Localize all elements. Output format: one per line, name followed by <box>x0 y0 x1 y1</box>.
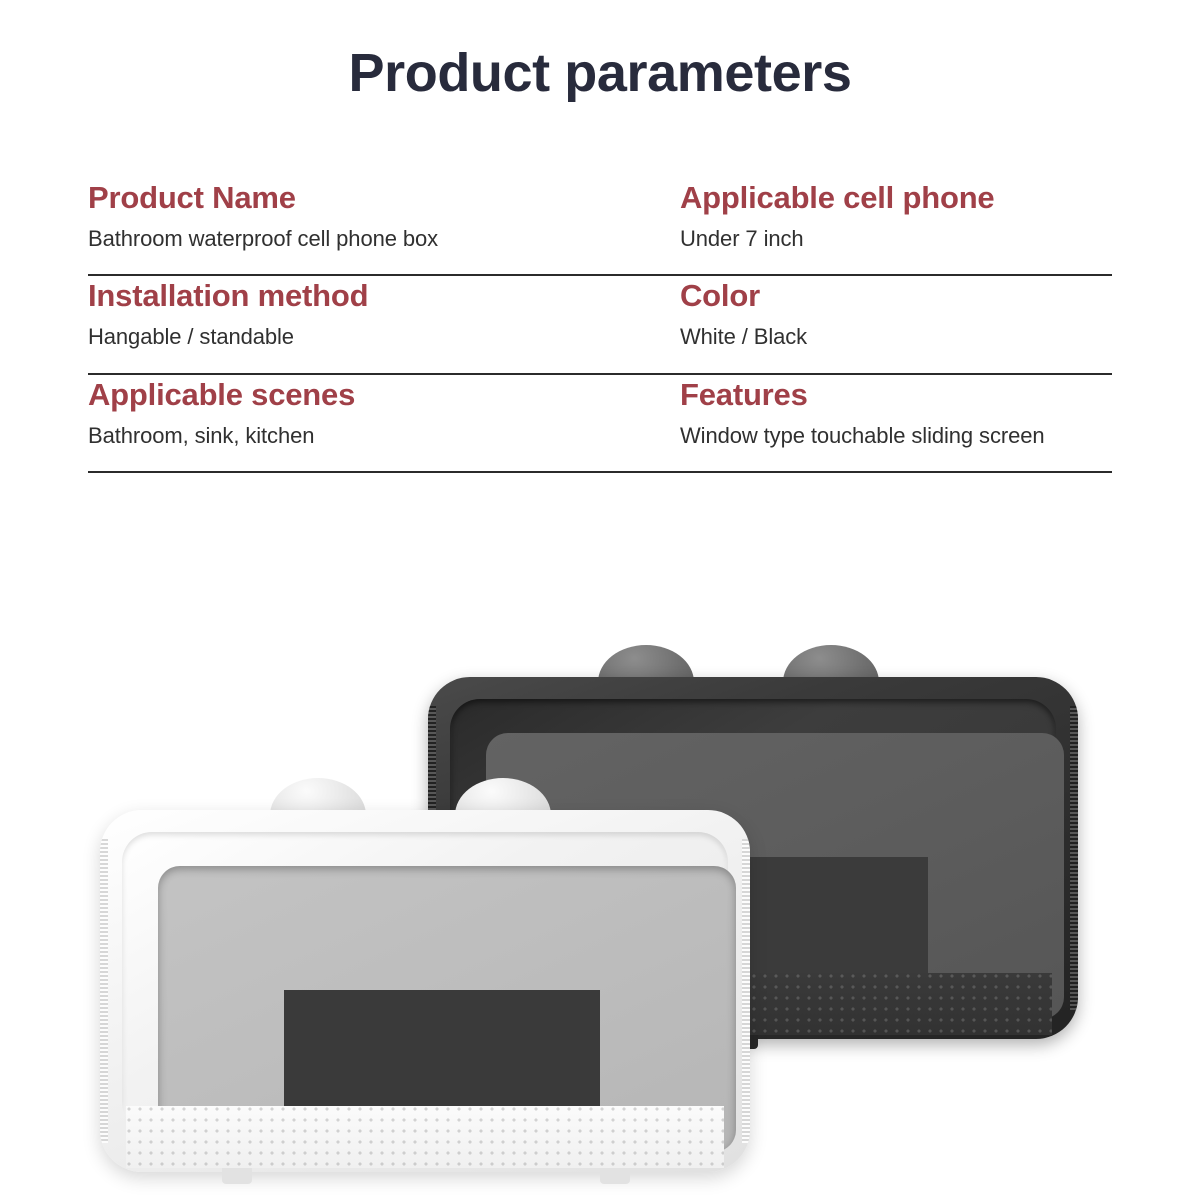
spec-cell-product-name: Product Name Bathroom waterproof cell ph… <box>88 178 680 274</box>
spec-row: Applicable scenes Bathroom, sink, kitche… <box>88 375 1112 473</box>
spec-cell-features: Features Window type touchable sliding s… <box>680 375 1112 471</box>
product-parameters-page: Product parameters Product Name Bathroom… <box>0 0 1200 1200</box>
device-bezel-white <box>122 832 728 1132</box>
spec-value-product-name: Bathroom waterproof cell phone box <box>88 226 680 252</box>
spec-value-applicable-cell-phone: Under 7 inch <box>680 226 1112 252</box>
device-shell-white <box>100 810 750 1172</box>
spec-value-color: White / Black <box>680 324 1112 350</box>
shell-ridge-right <box>1070 706 1078 1010</box>
spec-label-features: Features <box>680 377 1112 413</box>
shell-ridge-right <box>742 839 750 1143</box>
speaker-grille-white <box>126 1106 724 1168</box>
device-foot <box>600 1168 630 1184</box>
product-image-stage <box>0 600 1200 1200</box>
spec-label-applicable-scenes: Applicable scenes <box>88 377 680 413</box>
shell-ridge-left <box>100 839 108 1143</box>
spec-row: Product Name Bathroom waterproof cell ph… <box>88 178 1112 276</box>
spec-label-applicable-cell-phone: Applicable cell phone <box>680 180 1112 216</box>
spec-cell-applicable-scenes: Applicable scenes Bathroom, sink, kitche… <box>88 375 680 471</box>
spec-cell-color: Color White / Black <box>680 276 1112 372</box>
spec-row: Installation method Hangable / standable… <box>88 276 1112 374</box>
spec-value-installation-method: Hangable / standable <box>88 324 680 350</box>
device-foot <box>222 1168 252 1184</box>
spec-value-applicable-scenes: Bathroom, sink, kitchen <box>88 423 680 449</box>
screen-content-bar <box>284 990 600 1110</box>
page-title: Product parameters <box>0 42 1200 104</box>
spec-label-product-name: Product Name <box>88 180 680 216</box>
spec-cell-applicable-cell-phone: Applicable cell phone Under 7 inch <box>680 178 1112 274</box>
product-device-white <box>100 778 750 1178</box>
specifications-table: Product Name Bathroom waterproof cell ph… <box>88 178 1112 473</box>
spec-value-features: Window type touchable sliding screen <box>680 423 1112 449</box>
spec-cell-installation-method: Installation method Hangable / standable <box>88 276 680 372</box>
spec-label-color: Color <box>680 278 1112 314</box>
spec-label-installation-method: Installation method <box>88 278 680 314</box>
